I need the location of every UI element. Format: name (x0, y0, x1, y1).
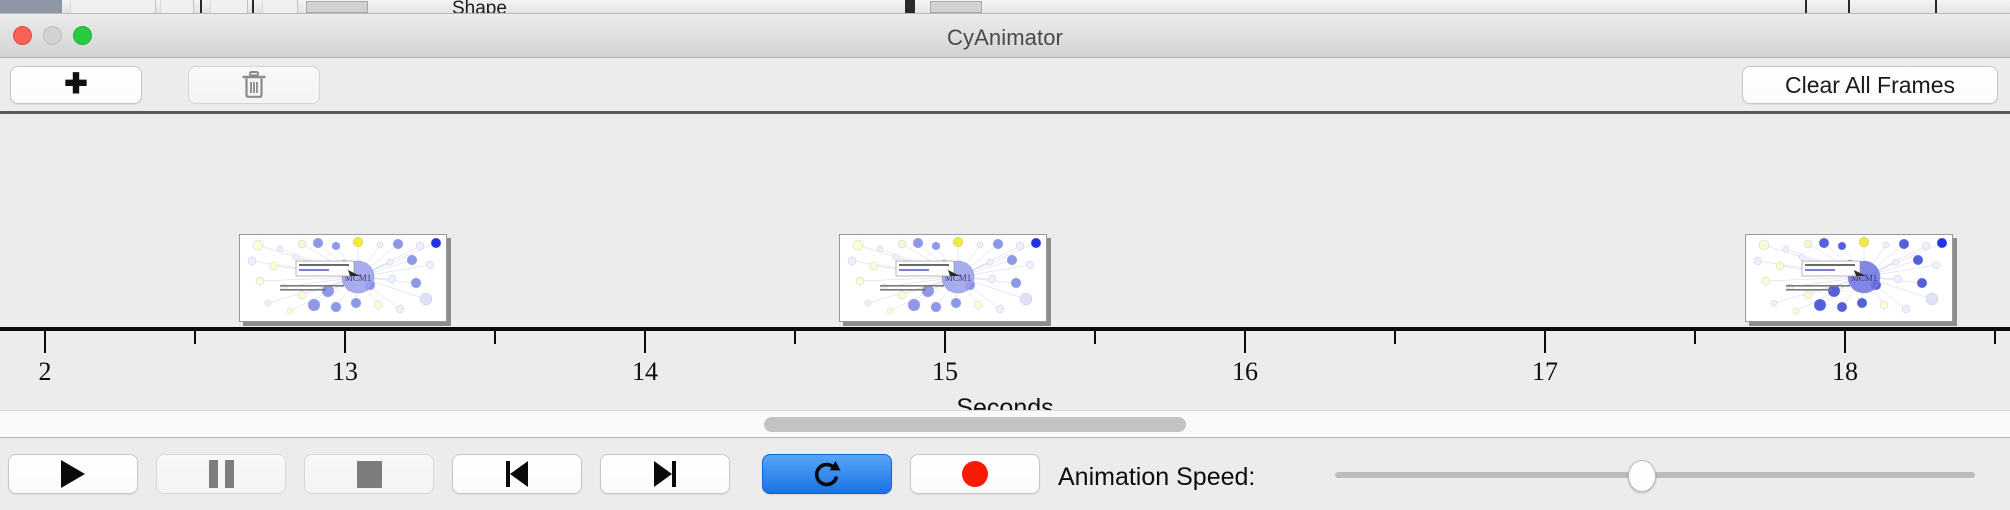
axis-tick-label: 15 (932, 357, 958, 387)
background-marker (1848, 0, 1850, 14)
frame-network-preview: MCM1 (1745, 234, 1953, 322)
background-marker (1935, 0, 1937, 14)
axis-tick-minor (1094, 331, 1096, 344)
background-tab (160, 0, 194, 14)
frame-network-preview: MCM1 (239, 234, 447, 322)
playback-toolbar: Animation Speed: (0, 439, 2010, 510)
axis-tick-minor (1994, 331, 1996, 344)
axis-tick-major (44, 331, 46, 353)
clear-all-frames-button[interactable]: Clear All Frames (1742, 66, 1998, 104)
record-button[interactable] (910, 454, 1040, 494)
animation-speed-label: Animation Speed: (1058, 463, 1255, 492)
axis-tick-label: 2 (39, 357, 52, 387)
pause-button[interactable] (156, 454, 286, 494)
record-icon (962, 461, 988, 487)
background-marker (252, 0, 254, 14)
frame-toolbar: ✚ Clear All Frames (0, 59, 2010, 111)
first-frame-button[interactable] (452, 454, 582, 494)
background-field (306, 1, 368, 13)
stop-icon (357, 461, 382, 488)
axis-tick-major (1544, 331, 1546, 353)
background-marker (1805, 0, 1807, 14)
timeline-axis (0, 327, 2010, 331)
title-bar[interactable]: CyAnimator (0, 14, 2010, 58)
frame-network-preview: MCM1 (839, 234, 1047, 322)
background-marker (200, 0, 202, 14)
background-tab (262, 0, 298, 14)
axis-tick-label: 14 (632, 357, 658, 387)
axis-title: Seconds (0, 394, 2010, 410)
axis-tick-major (1844, 331, 1846, 353)
play-icon (61, 460, 85, 488)
skip-back-icon (506, 461, 528, 487)
add-frame-button[interactable]: ✚ (10, 66, 142, 104)
axis-tick-minor (194, 331, 196, 344)
axis-tick-major (644, 331, 646, 353)
axis-tick-minor (494, 331, 496, 344)
loop-icon (812, 459, 842, 489)
background-marker (905, 0, 915, 14)
window-title: CyAnimator (0, 25, 2010, 51)
background-field (930, 1, 982, 13)
background-shape-label: Shape (452, 0, 507, 14)
background-tab (210, 0, 248, 14)
frame-thumbnail[interactable]: MCM1 (839, 234, 1051, 326)
skip-forward-icon (654, 461, 676, 487)
background-window-strip: Shape (0, 0, 2010, 14)
frame-thumbnail[interactable]: MCM1 (239, 234, 451, 326)
plus-icon: ✚ (64, 70, 87, 98)
axis-tick-label: 17 (1532, 357, 1558, 387)
loop-button[interactable] (762, 454, 892, 494)
background-titlebar-chip (0, 0, 62, 14)
background-tab (70, 0, 156, 14)
frame-thumbnail[interactable]: MCM1 (1745, 234, 1957, 326)
last-frame-button[interactable] (600, 454, 730, 494)
axis-tick-major (944, 331, 946, 353)
axis-tick-label: 13 (332, 357, 358, 387)
delete-frame-button[interactable] (188, 66, 320, 104)
axis-tick-major (344, 331, 346, 353)
axis-tick-minor (1394, 331, 1396, 344)
axis-tick-major (1244, 331, 1246, 353)
pause-icon (209, 460, 234, 488)
animation-speed-thumb[interactable] (1628, 460, 1656, 492)
timeline-panel[interactable]: MCM1MCM1MCM1 2131415161718 Seconds (0, 114, 2010, 410)
play-button[interactable] (8, 454, 138, 494)
animation-speed-slider[interactable] (1335, 472, 1975, 478)
axis-tick-minor (794, 331, 796, 344)
stop-button[interactable] (304, 454, 434, 494)
scrollbar-thumb[interactable] (764, 417, 1186, 432)
axis-tick-label: 18 (1832, 357, 1858, 387)
cyanimator-window: Shape CyAnimator ✚ Cle (0, 0, 2010, 510)
axis-tick-minor (1694, 331, 1696, 344)
axis-tick-label: 16 (1232, 357, 1258, 387)
trash-icon (241, 70, 267, 100)
timeline-scrollbar[interactable] (0, 410, 2010, 438)
